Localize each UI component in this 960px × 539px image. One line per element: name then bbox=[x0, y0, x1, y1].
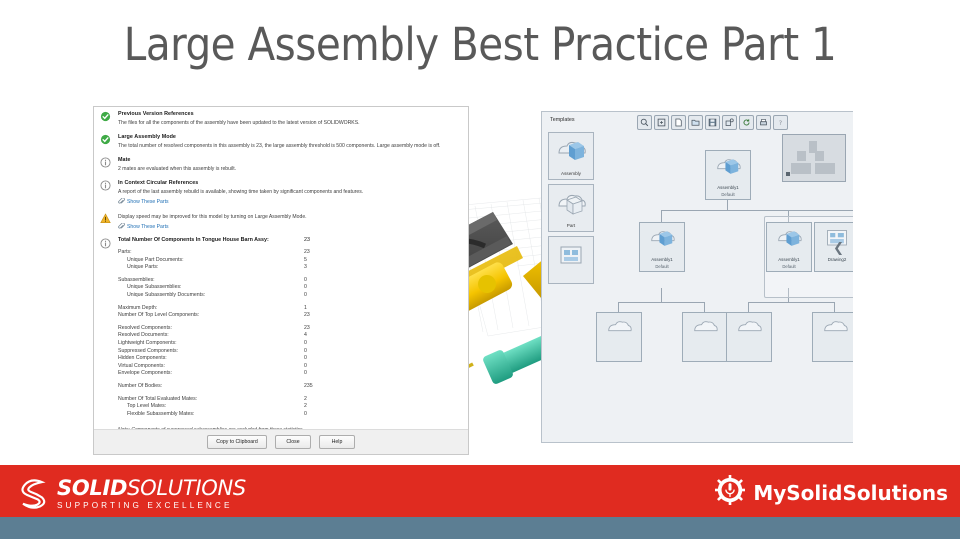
solid-solutions-logo: SOLIDSOLUTIONS SUPPORTING EXCELLENCE bbox=[14, 474, 246, 515]
overview-thumbnail[interactable] bbox=[782, 134, 846, 182]
entry-title: In Context Circular References bbox=[118, 179, 462, 187]
statistics-row: Maximum Depth:1 bbox=[118, 305, 462, 313]
report-entry: Display speed may be improved for this m… bbox=[94, 209, 468, 234]
report-entry: In Context Circular References A report … bbox=[94, 176, 468, 209]
help-icon[interactable]: ? bbox=[773, 115, 788, 130]
tree-connector bbox=[618, 302, 619, 312]
statistics-row-value: 2 bbox=[304, 403, 307, 411]
statistics-row: Unique Subassemblies:0 bbox=[118, 284, 462, 292]
statistics-row-label: Unique Subassemblies: bbox=[118, 284, 182, 292]
statistics-row-value: 0 bbox=[304, 411, 307, 419]
brand-name-bold: SOLID bbox=[57, 476, 127, 500]
statistics-row: Unique Part Documents:5 bbox=[118, 257, 462, 265]
statistics-row-label: Unique Subassembly Documents: bbox=[118, 292, 205, 300]
part-icon bbox=[822, 317, 848, 346]
statistics-row-label: Unique Part Documents: bbox=[118, 257, 184, 265]
mss-prefix: My bbox=[753, 481, 786, 505]
statistics-row-label: Virtual Components: bbox=[118, 363, 165, 371]
tree-connector bbox=[748, 302, 749, 312]
entry-description: Display speed may be improved for this m… bbox=[118, 213, 462, 221]
statistics-row: Virtual Components:0 bbox=[118, 363, 462, 371]
template-list[interactable]: Assembly Part bbox=[548, 132, 594, 288]
statistics-row: Top Level Mates:2 bbox=[118, 403, 462, 411]
statistics-list: Parts:23Unique Part Documents:5Unique Pa… bbox=[118, 249, 462, 418]
tree-node-config: Default bbox=[706, 192, 750, 197]
entry-title: Mate bbox=[118, 156, 462, 164]
statistics-row: Parts:23 bbox=[118, 249, 462, 257]
entry-description: A report of the last assembly rebuild is… bbox=[118, 188, 462, 196]
brand-tagline: SUPPORTING EXCELLENCE bbox=[57, 502, 246, 510]
assembly-template-icon bbox=[556, 138, 586, 171]
solid-solutions-swirl-icon bbox=[14, 474, 50, 515]
statistics-row-value: 2 bbox=[304, 396, 307, 404]
brand-name-light: SOLUTIONS bbox=[127, 476, 246, 500]
statistics-row-label: Maximum Depth: bbox=[118, 305, 157, 313]
tree-node-leaf-3[interactable] bbox=[726, 312, 772, 362]
tree-connector bbox=[748, 302, 834, 303]
link-label: Show These Parts bbox=[127, 224, 169, 230]
report-entry: Mate 2 mates are evaluated when this ass… bbox=[94, 153, 468, 176]
statistics-row-value: 0 bbox=[304, 355, 307, 363]
explorer-toolbar[interactable]: ? bbox=[637, 115, 788, 130]
statistics-row-value: 0 bbox=[304, 340, 307, 348]
statistics-row-label: Flexible Subassembly Mates: bbox=[118, 411, 194, 419]
template-label: Part bbox=[549, 223, 593, 228]
template-item-drawing[interactable] bbox=[548, 236, 594, 284]
print-icon[interactable] bbox=[756, 115, 771, 130]
copy-to-clipboard-button[interactable]: Copy to Clipboard bbox=[207, 435, 267, 449]
assembly-evaluation-dialog[interactable]: Previous Version References The files fo… bbox=[93, 106, 469, 455]
drawing-template-icon bbox=[556, 242, 586, 275]
dialog-footer: Copy to Clipboard Close Help bbox=[94, 429, 468, 454]
show-these-parts-link[interactable]: Show These Parts bbox=[118, 198, 462, 206]
panel-header: Templates bbox=[542, 112, 853, 130]
entry-title: Previous Version References bbox=[118, 110, 462, 118]
screenshot-region: BOLTER 77D bbox=[93, 106, 853, 461]
report-entry: Previous Version References The files fo… bbox=[94, 107, 468, 130]
template-label: Assembly bbox=[549, 171, 593, 176]
statistics-row-label: Number Of Total Evaluated Mates: bbox=[118, 396, 197, 404]
statistics-row: Number Of Total Evaluated Mates:2 bbox=[118, 396, 462, 404]
help-button[interactable]: Help bbox=[319, 435, 355, 449]
brand-footer: SOLIDSOLUTIONS SUPPORTING EXCELLENCE bbox=[0, 465, 960, 517]
tree-node-child-2[interactable]: Assembly1 Default bbox=[766, 222, 812, 272]
info-icon bbox=[100, 180, 111, 191]
statistics-row-value: 4 bbox=[304, 332, 307, 340]
solidworks-explorer-panel[interactable]: Templates bbox=[541, 111, 853, 443]
entry-description: 2 mates are evaluated when this assembly… bbox=[118, 165, 462, 173]
entry-description: The total number of resolved components … bbox=[118, 142, 462, 150]
statistics-row: Lightweight Components:0 bbox=[118, 340, 462, 348]
collapse-chevron-icon[interactable]: ❮ bbox=[833, 240, 844, 256]
statistics-row: Resolved Components:23 bbox=[118, 325, 462, 333]
template-item-assembly[interactable]: Assembly bbox=[548, 132, 594, 180]
report-entry: Large Assembly Mode The total number of … bbox=[94, 130, 468, 153]
statistics-row-label: Envelope Components: bbox=[118, 370, 172, 378]
statistics-row-label: Number Of Top Level Components: bbox=[118, 312, 199, 320]
assembly-icon bbox=[715, 155, 741, 184]
statistics-row: Number Of Top Level Components:23 bbox=[118, 312, 462, 320]
part-icon bbox=[692, 317, 718, 346]
assembly-icon bbox=[649, 227, 675, 256]
show-these-parts-link[interactable]: Show These Parts bbox=[118, 223, 462, 231]
bottom-accent-strip bbox=[0, 517, 960, 539]
statistics-row-label: Suppressed Components: bbox=[118, 348, 178, 356]
svg-text:?: ? bbox=[779, 119, 782, 127]
tree-connector bbox=[661, 210, 662, 222]
green-check-icon bbox=[100, 111, 111, 122]
tree-connector bbox=[704, 302, 705, 312]
statistics-row-value: 23 bbox=[304, 325, 310, 333]
green-check-icon bbox=[100, 134, 111, 145]
close-button[interactable]: Close bbox=[275, 435, 311, 449]
statistics-row: Number Of Bodies:235 bbox=[118, 383, 462, 391]
tree-node-label: Drawing2 bbox=[815, 257, 853, 262]
statistics-row: Subassemblies:0 bbox=[118, 277, 462, 285]
statistics-row-value: 0 bbox=[304, 348, 307, 356]
assembly-icon bbox=[776, 227, 802, 256]
statistics-row-label: Unique Parts: bbox=[118, 264, 158, 272]
refresh-icon[interactable] bbox=[739, 115, 754, 130]
statistics-row-label: Top Level Mates: bbox=[118, 403, 166, 411]
statistics-row-label: Subassemblies: bbox=[118, 277, 155, 285]
statistics-row: Flexible Subassembly Mates:0 bbox=[118, 411, 462, 419]
statistics-label: Total Number Of Components In Tongue Hou… bbox=[118, 237, 269, 243]
statistics-row-value: 0 bbox=[304, 370, 307, 378]
tree-node-label: Assembly1 bbox=[767, 257, 811, 262]
link-label: Show These Parts bbox=[127, 199, 169, 205]
warning-icon bbox=[100, 213, 111, 224]
statistics-row-label: Parts: bbox=[118, 249, 132, 257]
tree-connector bbox=[661, 210, 853, 211]
statistics-header-row: Total Number Of Components In Tongue Hou… bbox=[94, 234, 468, 243]
statistics-value: 23 bbox=[304, 237, 310, 243]
tree-connector bbox=[834, 302, 835, 312]
zoom-in-icon[interactable] bbox=[637, 115, 652, 130]
template-item-part[interactable]: Part bbox=[548, 184, 594, 232]
statistics-row-value: 0 bbox=[304, 284, 307, 292]
statistics-row-value: 3 bbox=[304, 264, 307, 272]
pack-and-go-icon[interactable] bbox=[722, 115, 737, 130]
paperclip-icon bbox=[118, 223, 125, 230]
tree-node-child-1[interactable]: Assembly1 Default bbox=[639, 222, 685, 272]
info-icon bbox=[100, 157, 111, 168]
my-solid-solutions-wordmark: MySolidSolutions bbox=[753, 481, 948, 505]
statistics-row-label: Lightweight Components: bbox=[118, 340, 177, 348]
dialog-body: Previous Version References The files fo… bbox=[94, 107, 468, 430]
part-icon bbox=[736, 317, 762, 346]
solid-solutions-wordmark: SOLIDSOLUTIONS SUPPORTING EXCELLENCE bbox=[57, 478, 246, 510]
info-icon bbox=[100, 238, 111, 249]
statistics-table: Parts:23Unique Part Documents:5Unique Pa… bbox=[94, 249, 468, 430]
open-folder-icon[interactable] bbox=[688, 115, 703, 130]
zoom-to-fit-icon[interactable] bbox=[654, 115, 669, 130]
statistics-row-value: 0 bbox=[304, 292, 307, 300]
tree-node-label: Assembly1 bbox=[706, 185, 750, 190]
statistics-row-value: 235 bbox=[304, 383, 313, 391]
tree-node-config: Default bbox=[767, 264, 811, 269]
tree-node-root[interactable]: Assembly1 Default bbox=[705, 150, 751, 200]
statistics-row-value: 23 bbox=[304, 249, 310, 257]
statistics-row-label: Number Of Bodies: bbox=[118, 383, 162, 391]
statistics-row-value: 5 bbox=[304, 257, 307, 265]
tree-node-leaf-4[interactable] bbox=[812, 312, 853, 362]
statistics-row-value: 0 bbox=[304, 363, 307, 371]
assembly-structure-tree[interactable]: Assembly1 Default Assembly1 Default bbox=[598, 132, 850, 440]
save-icon[interactable] bbox=[705, 115, 720, 130]
statistics-row-value: 1 bbox=[304, 305, 307, 313]
my-solid-solutions-logo: MySolidSolutions bbox=[715, 475, 948, 510]
tree-node-leaf-2[interactable] bbox=[682, 312, 728, 362]
statistics-row: Suppressed Components:0 bbox=[118, 348, 462, 356]
statistics-row: Hidden Components:0 bbox=[118, 355, 462, 363]
statistics-title: Total Number Of Components In Tongue Hou… bbox=[118, 237, 462, 243]
mss-main: SolidSolutions bbox=[786, 481, 948, 505]
new-document-icon[interactable] bbox=[671, 115, 686, 130]
statistics-row-value: 23 bbox=[304, 312, 310, 320]
statistics-row: Unique Subassembly Documents:0 bbox=[118, 292, 462, 300]
paperclip-icon bbox=[118, 198, 125, 205]
entry-title: Large Assembly Mode bbox=[118, 133, 462, 141]
tree-connector bbox=[661, 288, 662, 302]
part-icon bbox=[606, 317, 632, 346]
templates-label: Templates bbox=[550, 117, 575, 123]
statistics-row-label: Hidden Components: bbox=[118, 355, 167, 363]
entry-description: The files for all the components of the … bbox=[118, 119, 462, 127]
statistics-row: Resolved Documents:4 bbox=[118, 332, 462, 340]
statistics-row-value: 0 bbox=[304, 277, 307, 285]
statistics-row-label: Resolved Documents: bbox=[118, 332, 169, 340]
tree-node-leaf-1[interactable] bbox=[596, 312, 642, 362]
tree-node-label: Assembly1 bbox=[640, 257, 684, 262]
tree-connector bbox=[618, 302, 704, 303]
statistics-row-label: Resolved Components: bbox=[118, 325, 172, 333]
tree-node-config: Default bbox=[640, 264, 684, 269]
part-template-icon bbox=[556, 190, 586, 223]
statistics-row: Unique Parts:3 bbox=[118, 264, 462, 272]
page-title: Large Assembly Best Practice Part 1 bbox=[0, 18, 960, 71]
statistics-row: Envelope Components:0 bbox=[118, 370, 462, 378]
my-solid-solutions-gear-icon bbox=[715, 475, 745, 510]
